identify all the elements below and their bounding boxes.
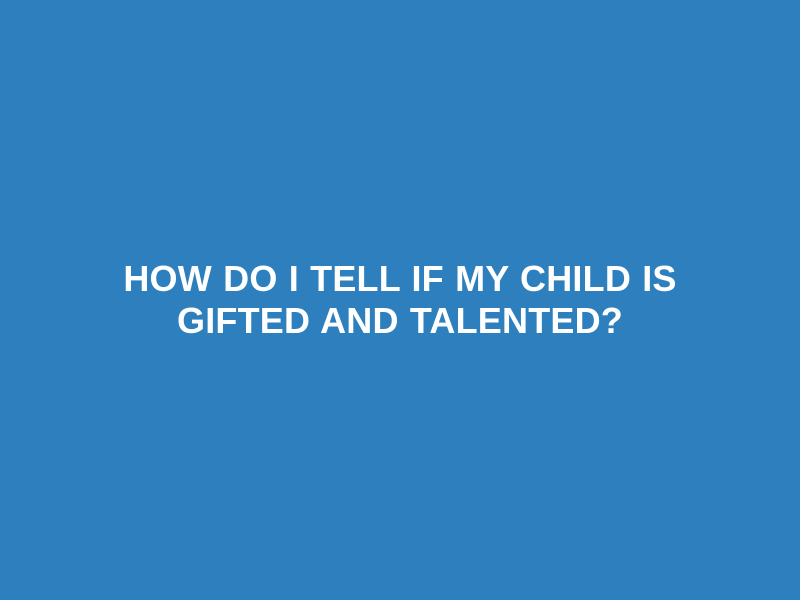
title-card: How do I tell if my child is gifted and … [0, 0, 800, 600]
page-title: How do I tell if my child is gifted and … [70, 258, 730, 342]
title-container: How do I tell if my child is gifted and … [70, 258, 730, 342]
